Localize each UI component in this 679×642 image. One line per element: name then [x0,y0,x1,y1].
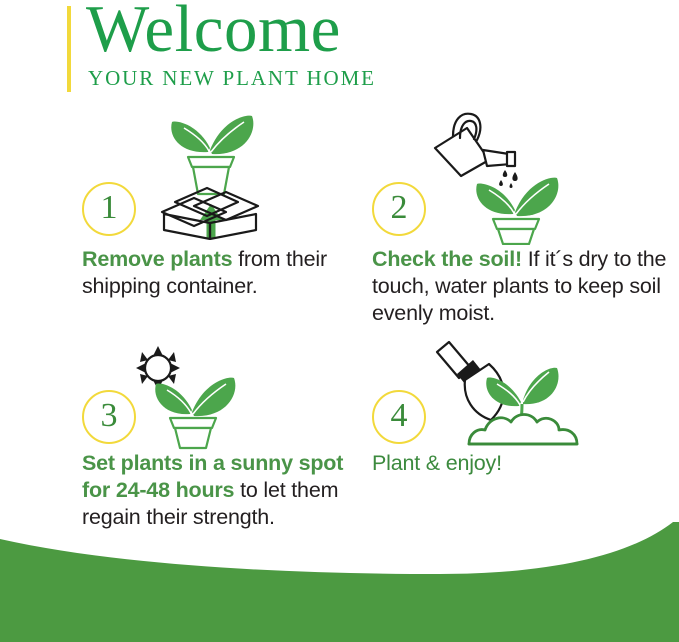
step-badge-3: 3 [82,390,136,444]
step-headline-1: Remove plants [82,247,232,271]
step-badge-1: 1 [82,182,136,236]
plant-in-box-icon [150,110,270,245]
step-text-3: Set plants in a sunny spot for 24-48 hou… [82,450,372,531]
watering-can-icon [427,110,567,250]
step-number-3: 3 [84,392,134,442]
step-text-2: Check the soil! If it´s dry to the touch… [372,246,672,327]
step-number-2: 2 [374,184,424,234]
header: Welcome YOUR NEW PLANT HOME [0,0,679,104]
footer-wave [0,522,679,642]
page-subtitle: YOUR NEW PLANT HOME [88,66,376,90]
trowel-and-seedling-icon [427,340,587,453]
step-number-1: 1 [84,184,134,234]
step-badge-4: 4 [372,390,426,444]
step-headline-2: Check the soil! [372,247,522,271]
step-badge-2: 2 [372,182,426,236]
welcome-plant-care-infographic: Welcome YOUR NEW PLANT HOME [0,0,679,642]
step-text-1: Remove plants from their shipping contai… [82,246,372,300]
page-title: Welcome [86,0,341,66]
step-headline-4: Plant & enjoy! [372,451,502,475]
header-accent-rule [67,6,71,92]
step-text-4: Plant & enjoy! [372,450,672,477]
sun-and-plant-icon [120,340,260,455]
step-number-4: 4 [374,392,424,442]
